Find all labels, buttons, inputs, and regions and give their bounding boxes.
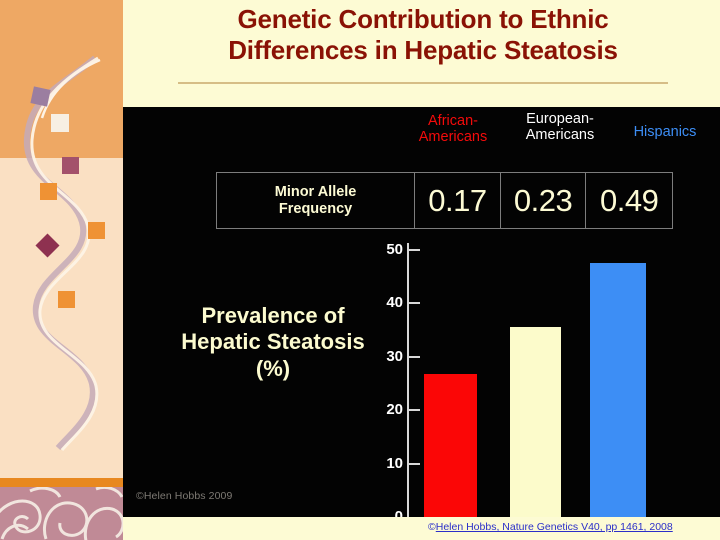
y-axis-line	[407, 243, 409, 517]
copyright-mark: ©	[428, 521, 436, 533]
sidebar-square-orange-1	[40, 183, 57, 200]
bar-hispanics	[590, 263, 646, 517]
panel-copyright: ©Helen Hobbs 2009	[136, 490, 232, 502]
sidebar-square-mauve-1	[30, 86, 50, 106]
y-tick-50	[409, 249, 420, 251]
y-tick-label-0: 0	[369, 508, 403, 517]
sidebar-paisley-pattern	[0, 487, 123, 540]
decorative-sidebar	[0, 0, 123, 540]
sidebar-curves	[0, 0, 123, 478]
y-tick-10	[409, 463, 420, 465]
title-line-1: Genetic Contribution to Ethnic	[128, 4, 718, 35]
sidebar-orange-stripe	[0, 478, 123, 487]
y-tick-label-50: 50	[369, 241, 403, 258]
source-citation: ©Helen Hobbs, Nature Genetics V40, pp 14…	[428, 521, 673, 533]
title-line-2: Differences in Hepatic Steatosis	[128, 35, 718, 66]
citation-link[interactable]: Helen Hobbs, Nature Genetics V40, pp 146…	[436, 521, 673, 533]
y-tick-label-10: 10	[369, 455, 403, 472]
y-tick-20	[409, 409, 420, 411]
y-tick-label-40: 40	[369, 294, 403, 311]
slide-title: Genetic Contribution to Ethnic Differenc…	[128, 4, 718, 65]
sidebar-square-white	[51, 114, 69, 132]
bar-chart-plot: 10203040500	[123, 107, 720, 517]
y-tick-40	[409, 302, 420, 304]
y-tick-label-20: 20	[369, 401, 403, 418]
chart-panel: African- Americans European- Americans H…	[123, 107, 720, 517]
slide-canvas: Genetic Contribution to Ethnic Differenc…	[0, 0, 720, 540]
bar-european-americans	[510, 327, 561, 517]
y-tick-label-30: 30	[369, 348, 403, 365]
title-divider	[178, 82, 668, 84]
bar-african-americans	[424, 374, 477, 517]
y-tick-30	[409, 356, 420, 358]
sidebar-square-mauve-2	[62, 157, 79, 174]
sidebar-square-orange-3	[58, 291, 75, 308]
sidebar-square-orange-2	[88, 222, 105, 239]
